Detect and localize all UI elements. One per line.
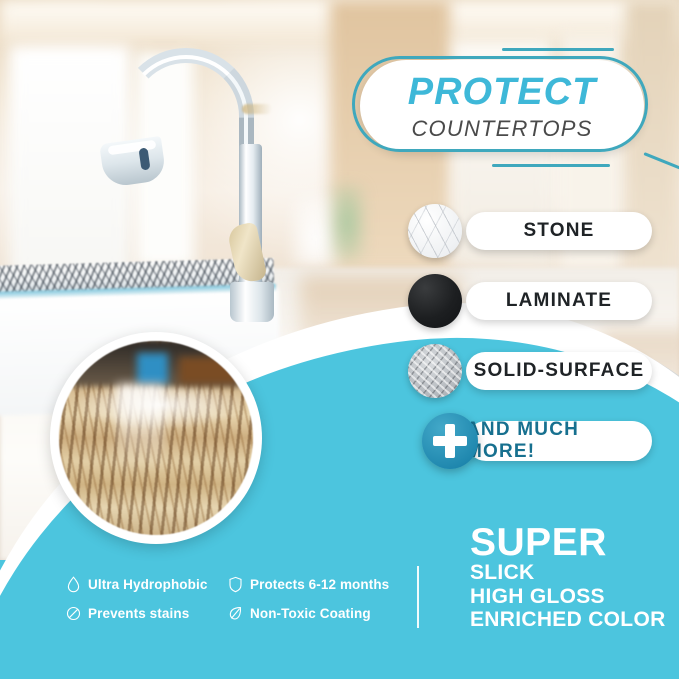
vertical-divider [417, 566, 419, 628]
plus-icon[interactable] [422, 413, 478, 469]
inset-gloss-reflection [117, 384, 164, 473]
faucet-base [230, 282, 274, 322]
faucet-warm-glint [242, 104, 272, 114]
gray-solid-surface-swatch [408, 344, 462, 398]
and-much-more-pill[interactable]: AND MUCH MORE! [466, 421, 652, 461]
material-label-solid-surface: SOLID-SURFACE [474, 360, 645, 382]
granite-closeup-inset [50, 332, 262, 544]
protect-countertops-badge: PROTECT COUNTERTOPS [352, 56, 652, 156]
inset-wood-blur [179, 357, 237, 384]
feature-non-toxic: Non-Toxic Coating [228, 599, 396, 628]
feature-prevents-stains: Prevents stains [66, 599, 228, 628]
leaf-icon [228, 605, 243, 622]
inset-blue-blur [137, 353, 168, 384]
white-marble-swatch [408, 204, 462, 258]
water-drop-icon [66, 576, 81, 593]
plant-blur [330, 185, 364, 260]
feature-ultra-hydrophobic: Ultra Hydrophobic [66, 570, 228, 599]
product-marketing-image: PROTECT COUNTERTOPS STONE LAMINATE SOLID… [0, 0, 679, 679]
kitchen-faucet [104, 44, 314, 314]
badge-accent-line-bottom [492, 164, 610, 167]
material-pill-stone[interactable]: STONE [466, 212, 652, 250]
material-label-stone: STONE [523, 220, 594, 242]
and-much-more-label: AND MUCH MORE! [466, 419, 652, 463]
no-stains-icon [66, 605, 81, 622]
black-laminate-swatch [408, 274, 462, 328]
feature-label: Protects 6-12 months [250, 577, 389, 592]
shield-icon [228, 576, 243, 593]
badge-accent-line-top [502, 48, 614, 51]
material-pill-solid-surface[interactable]: SOLID-SURFACE [466, 352, 652, 390]
plus-icon-horizontal [433, 436, 467, 446]
feature-protects-duration: Protects 6-12 months [228, 570, 396, 599]
feature-label: Non-Toxic Coating [250, 606, 371, 621]
benefit-line-high-gloss: HIGH GLOSS [470, 585, 670, 609]
badge-title: PROTECT [408, 73, 597, 111]
feature-label: Prevents stains [88, 606, 189, 621]
feature-label: Ultra Hydrophobic [88, 577, 207, 592]
material-label-laminate: LAMINATE [506, 290, 612, 312]
benefit-line-enriched-color: ENRICHED COLOR [470, 608, 670, 632]
benefits-block: SUPER SLICK HIGH GLOSS ENRICHED COLOR [470, 524, 670, 632]
feature-list: Ultra Hydrophobic Protects 6-12 months P… [66, 570, 396, 630]
granite-closeup-photo [59, 341, 253, 535]
benefit-line-slick: SLICK [470, 561, 670, 585]
badge-text-group: PROTECT COUNTERTOPS [360, 60, 644, 152]
benefits-headline: SUPER [470, 524, 670, 561]
material-pill-laminate[interactable]: LAMINATE [466, 282, 652, 320]
badge-subtitle: COUNTERTOPS [411, 118, 592, 140]
